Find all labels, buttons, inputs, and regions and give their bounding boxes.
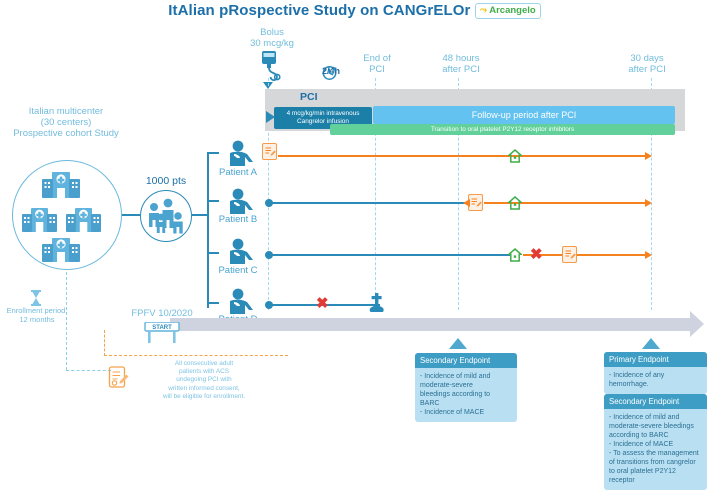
death-icon xyxy=(368,293,386,312)
patient-icon xyxy=(221,238,255,264)
infusion-line1: 4 mcg/kg/min intravenous xyxy=(287,110,360,118)
page-title-text: ItAlian pRospective Study on CANGrELOr xyxy=(168,2,470,19)
right-secondary-endpoint-header: Secondary Endpoint xyxy=(604,394,707,409)
connector-bus-to-patient-a xyxy=(207,152,219,154)
mid-sec-line5: - Incidence of MACE xyxy=(420,408,512,417)
eligibility-line4: written informed consent, xyxy=(134,385,274,393)
eligibility-connector xyxy=(104,330,105,356)
iv-bag-icon xyxy=(258,50,284,84)
hospital-buildings-icon xyxy=(22,168,114,264)
mid-sec-line4: BARC xyxy=(420,399,512,408)
consent-clipboard-icon xyxy=(562,246,577,263)
eligibility-line2: patients with ACS xyxy=(134,368,274,376)
mid-sec-line2: moderate-severe xyxy=(420,381,512,390)
end-pci-line1: End of xyxy=(345,53,409,64)
patient-c-arrowhead xyxy=(645,251,652,259)
d30-line2: after PCI xyxy=(615,64,679,75)
study-caption-line2: (30 centers) xyxy=(2,117,130,128)
discharge-house-icon xyxy=(508,248,522,262)
study-design-caption: Italian multicenter (30 centers) Prospec… xyxy=(2,106,130,139)
primary-endpoint-body: - Incidence of any hemorrhage. xyxy=(604,367,707,394)
marker-48-hours: 48 hours after PCI xyxy=(425,53,497,75)
patient-a-arrowhead xyxy=(645,152,652,160)
patient-icon xyxy=(221,288,255,314)
pci-band-label: PCI xyxy=(300,91,360,103)
rsec-line3: according to BARC xyxy=(609,431,702,440)
enrollment-line2: 12 months xyxy=(0,315,78,324)
rsec-line2: moderate-severe bleedings xyxy=(609,422,702,431)
rsec-line5: - To assess the management xyxy=(609,449,702,458)
enrollment-connector-horizontal xyxy=(66,370,111,371)
connector-bus-to-patient-b xyxy=(207,200,219,202)
h48-line1: 48 hours xyxy=(425,53,497,64)
hourglass-icon xyxy=(30,290,42,306)
patient-icon xyxy=(221,188,255,214)
enrollment-period-label: Enrollment period: 12 months xyxy=(0,306,78,324)
consent-clipboard-icon xyxy=(108,365,130,391)
secondary-endpoint-pointer xyxy=(449,338,467,349)
fpfv-label: FPFV 10/2020 xyxy=(124,308,200,319)
svg-text:START: START xyxy=(152,325,172,331)
mid-sec-line1: - Incidence of mild and xyxy=(420,372,512,381)
patient-b-arrowhead xyxy=(645,199,652,207)
eligibility-line3: undegoing PCI with xyxy=(134,376,274,384)
connector-bus-vertical xyxy=(207,152,209,308)
primary-endpoint-card: Primary Endpoint - Incidence of any hemo… xyxy=(604,352,707,394)
marker-end-of-pci: End of PCI xyxy=(345,53,409,75)
connector-bus-to-patient-d xyxy=(207,302,219,304)
right-secondary-endpoint-card: Secondary Endpoint - Incidence of mild a… xyxy=(604,394,707,490)
rsec-line8: receptor xyxy=(609,476,702,485)
start-gate-icon: START xyxy=(142,322,186,344)
eligibility-note: All consecutive adult patients with ACS … xyxy=(134,360,274,401)
page-title: ItAlian pRospective Study on CANGrELOr⤳A… xyxy=(0,2,709,19)
d30-line1: 30 days xyxy=(615,53,679,64)
transition-to-oral-bar: Transition to oral platelet P2Y12 recept… xyxy=(330,124,675,135)
patient-b-left-arrowhead xyxy=(463,199,470,207)
marker-30-days: 30 days after PCI xyxy=(615,53,679,75)
rsec-line7: to oral platelet P2Y12 xyxy=(609,467,702,476)
study-caption-line1: Italian multicenter xyxy=(2,106,130,117)
patient-count-label: 1000 pts xyxy=(134,176,198,187)
bolus-line1: Bolus xyxy=(230,27,314,38)
enrollment-line1: Enrollment period: xyxy=(0,306,78,315)
brand-label: Arcangelo xyxy=(489,5,535,16)
wing-icon: ⤳ xyxy=(480,4,487,17)
patient-icon xyxy=(221,140,255,166)
eligibility-dashed-rule xyxy=(104,355,288,356)
patient-a-label: Patient A xyxy=(210,167,266,178)
consent-clipboard-icon xyxy=(468,194,483,211)
h48-line2: after PCI xyxy=(425,64,497,75)
prim-line1: - Incidence of any xyxy=(609,371,702,380)
rsec-line6: of transitions from cangrelor xyxy=(609,458,702,467)
prim-line2: hemorrhage. xyxy=(609,380,702,389)
patient-b-label: Patient B xyxy=(210,214,266,225)
secondary-endpoint-header: Secondary Endpoint xyxy=(415,353,517,368)
secondary-endpoint-body: - Incidence of mild and moderate-severe … xyxy=(415,368,517,422)
bolus-label: Bolus 30 mcg/kg xyxy=(230,27,314,49)
consent-clipboard-icon xyxy=(262,143,277,160)
bolus-line2: 30 mcg/kg xyxy=(230,38,314,49)
connector-bus-to-patient-c xyxy=(207,252,219,254)
primary-endpoint-header: Primary Endpoint xyxy=(604,352,707,367)
eligibility-line5: will be eligible for enrollment. xyxy=(134,393,274,401)
patient-a-orange-line xyxy=(278,155,646,157)
eligibility-line1: All consecutive adult xyxy=(134,360,274,368)
study-timeline-arrowhead xyxy=(690,311,704,337)
mid-sec-line3: bleedings according to xyxy=(420,390,512,399)
adverse-event-x-icon: ✖ xyxy=(530,247,543,262)
patient-c-label: Patient C xyxy=(210,265,266,276)
secondary-endpoint-card: Secondary Endpoint - Incidence of mild a… xyxy=(415,353,517,422)
study-timeline-arrow xyxy=(170,318,692,331)
patient-c-blue-line xyxy=(270,254,510,256)
people-group-icon xyxy=(146,198,188,236)
brand-badge: ⤳Arcangelo xyxy=(475,3,540,19)
rsec-line1: - Incidence of mild and xyxy=(609,413,702,422)
primary-endpoint-pointer xyxy=(642,338,660,349)
adverse-event-x-icon: ✖ xyxy=(316,296,329,311)
discharge-house-icon xyxy=(508,149,522,163)
discharge-house-icon xyxy=(508,196,522,210)
study-caption-line3: Prospective cohort Study xyxy=(2,128,130,139)
right-secondary-endpoint-body: - Incidence of mild and moderate-severe … xyxy=(604,409,707,490)
connector-centers-to-pts xyxy=(122,214,140,216)
connector-pts-to-bus xyxy=(192,214,208,216)
end-pci-line2: PCI xyxy=(345,64,409,75)
patient-b-blue-line xyxy=(270,202,470,204)
followup-period-bar: Follow-up period after PCI xyxy=(373,106,675,124)
rsec-line4: - Incidence of MACE xyxy=(609,440,702,449)
